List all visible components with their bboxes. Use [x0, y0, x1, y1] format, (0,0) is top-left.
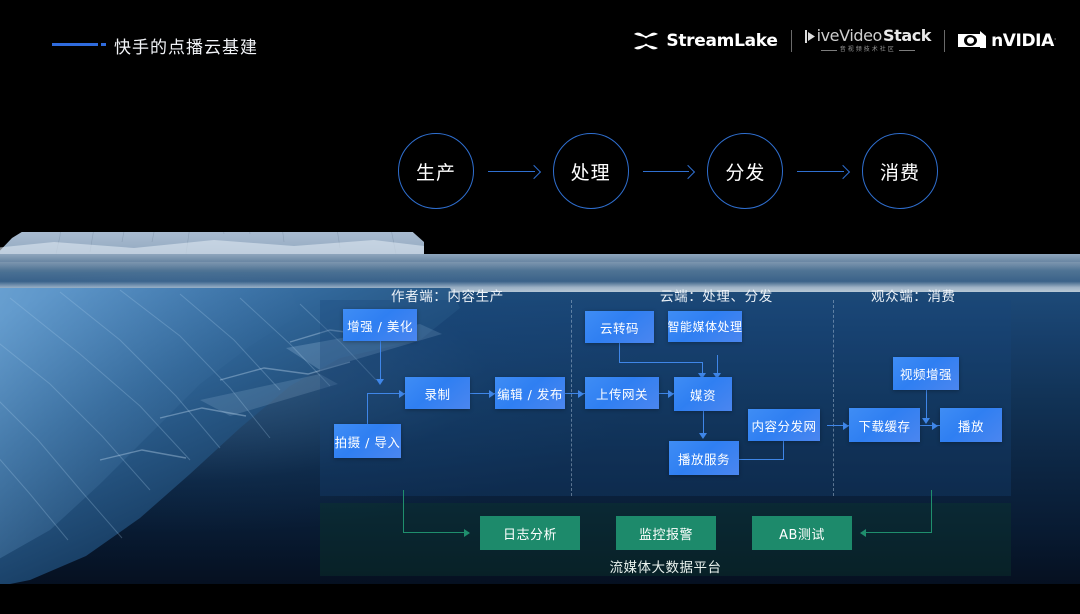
node-video-enhance[interactable]: 视频增强	[893, 357, 959, 390]
edge-asset-to-play	[703, 411, 704, 435]
logo-divider-2	[944, 30, 945, 52]
gedge-left-right	[403, 532, 469, 533]
logo-group: StreamLake iveVideo Stack 音视频技术社区	[633, 28, 1056, 53]
nvidia-wordmark: nVIDIA.	[991, 31, 1056, 51]
node-ab-test[interactable]: AB测试	[752, 516, 852, 550]
streamlake-logo: StreamLake	[633, 31, 777, 51]
node-cloud-transcode[interactable]: 云转码	[585, 311, 654, 343]
slide-header: 快手的点播云基建 StreamLake iveVideo Stack	[0, 0, 1080, 90]
node-play-service[interactable]: 播放服务	[669, 441, 739, 475]
lvs-subtitle-row: 音视频技术社区	[821, 47, 915, 53]
section-label-viewer: 观众端：消费	[871, 285, 956, 305]
page-title: 快手的点播云基建	[114, 33, 258, 58]
logo-divider-1	[791, 30, 792, 52]
edge-cache-to-playback-arrow-icon	[932, 422, 938, 430]
node-download-cache[interactable]: 下载缓存	[849, 408, 920, 442]
streamlake-mark-icon	[633, 31, 659, 51]
node-edit-publish[interactable]: 编辑 / 发布	[495, 377, 565, 409]
flow-stage-consumption[interactable]: 消费	[862, 133, 938, 209]
flow-arrow-2-icon	[637, 165, 700, 177]
edge-enhance-down	[380, 341, 381, 381]
edge-edit-to-upload-arrow-icon	[578, 390, 584, 398]
edge-smart-to-asset	[717, 355, 718, 375]
edge-play-to-cdn-h	[739, 459, 784, 460]
lvs-play-icon	[805, 30, 816, 43]
title-accent-bar	[52, 43, 98, 46]
edge-videoenh-arrow-icon	[922, 418, 930, 424]
nvidia-logo: nVIDIA.	[958, 31, 1056, 51]
node-log-analysis[interactable]: 日志分析	[480, 516, 580, 550]
nvidia-tm-mark: .	[1054, 32, 1056, 41]
edge-asset-to-play-arrow-icon	[699, 433, 707, 439]
node-record[interactable]: 录制	[405, 377, 470, 409]
livevideostack-logo: iveVideo Stack 音视频技术社区	[805, 28, 932, 53]
section-label-author: 作者端：内容生产	[391, 285, 504, 305]
node-smart-media[interactable]: 智能媒体处理	[668, 311, 742, 342]
edge-enhance-arrow-icon	[376, 379, 384, 385]
node-monitor-alert[interactable]: 监控报警	[616, 516, 716, 550]
flow-arrow-1-icon	[482, 165, 545, 177]
nvidia-eye-icon	[958, 31, 986, 50]
edge-cache-to-playback	[920, 425, 942, 426]
lvs-subtitle: 音视频技术社区	[840, 47, 896, 53]
slide-root: 快手的点播云基建 StreamLake iveVideo Stack	[0, 0, 1080, 614]
edge-transcode-right	[619, 362, 703, 363]
lifecycle-flow: 生产 处理 分发 消费	[398, 133, 938, 209]
lvs-rule-left	[821, 50, 837, 51]
gedge-right-down	[931, 490, 932, 533]
edge-play-to-cdn-v	[783, 440, 784, 460]
node-media-asset[interactable]: 媒资	[674, 377, 732, 411]
node-enhance[interactable]: 增强 / 美化	[343, 309, 417, 341]
lvs-rule-right	[899, 50, 915, 51]
streamlake-wordmark: StreamLake	[666, 31, 777, 51]
lvs-wordmark-light: iveVideo	[817, 28, 882, 44]
gedge-right-left	[866, 532, 932, 533]
node-cdn[interactable]: 内容分发网	[748, 409, 820, 441]
lvs-wordmark-bold: Stack	[883, 28, 931, 44]
section-divider-1	[571, 300, 572, 496]
sea-floor-dark-band	[0, 584, 1080, 614]
edge-capture-up	[367, 393, 368, 424]
gedge-left-down	[403, 490, 404, 533]
bigdata-platform-label: 流媒体大数据平台	[320, 556, 1011, 576]
node-playback[interactable]: 播放	[940, 408, 1002, 442]
gedge-left-arrow-icon	[464, 529, 470, 537]
edge-transcode-down	[619, 343, 620, 363]
node-upload-gateway[interactable]: 上传网关	[585, 377, 659, 409]
section-label-cloud: 云端：处理、分发	[660, 285, 773, 305]
gedge-right-arrow-icon	[860, 529, 866, 537]
flow-stage-distribution[interactable]: 分发	[707, 133, 783, 209]
flow-arrow-3-icon	[791, 165, 854, 177]
section-divider-2	[833, 300, 834, 496]
edge-videoenh-down	[926, 390, 927, 420]
flow-stage-production[interactable]: 生产	[398, 133, 474, 209]
flow-stage-processing[interactable]: 处理	[553, 133, 629, 209]
node-capture[interactable]: 拍摄 / 导入	[334, 424, 401, 458]
